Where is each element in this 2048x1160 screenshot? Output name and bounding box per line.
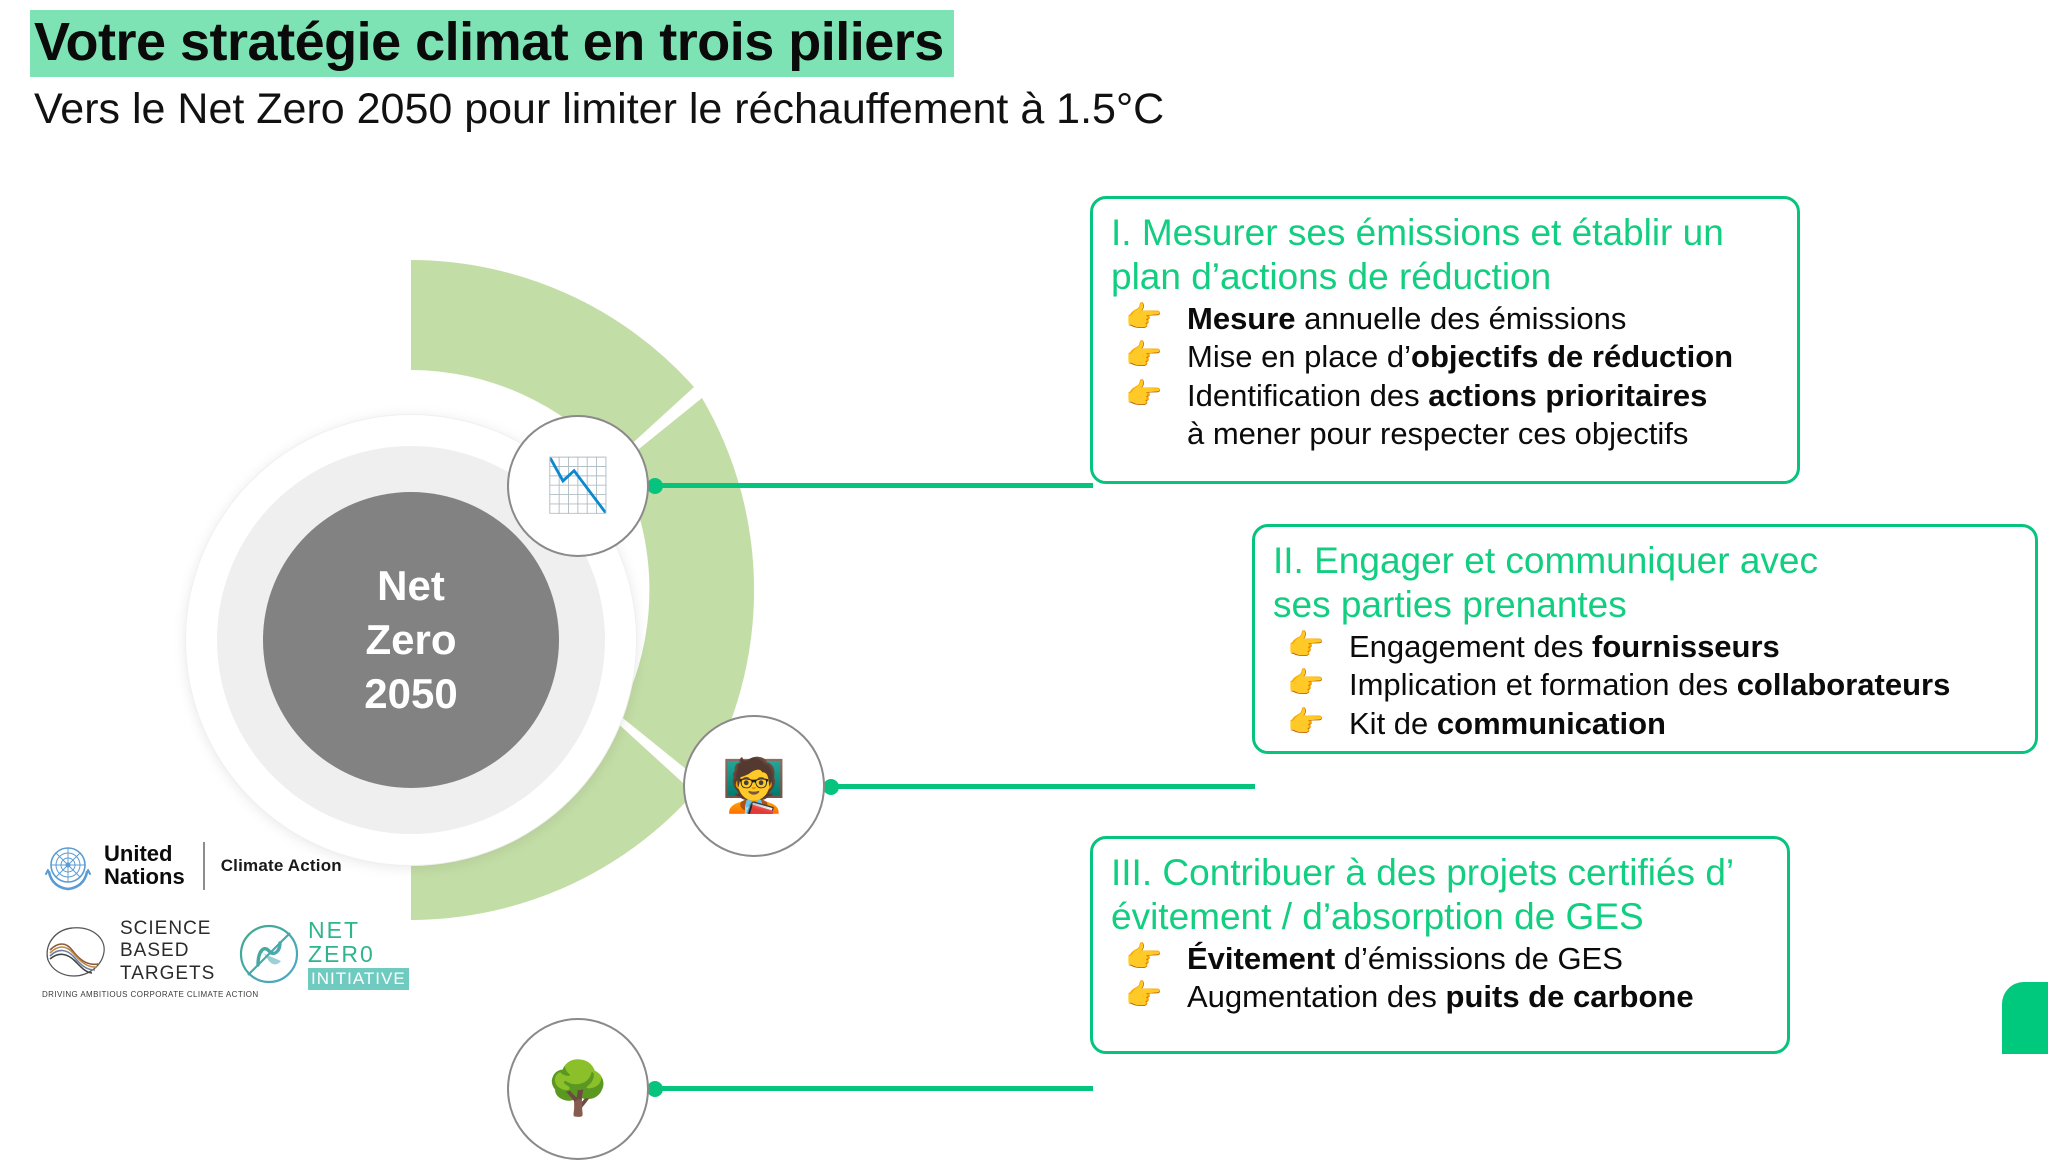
pillar-1-icon-bubble[interactable]: 📉 bbox=[507, 415, 649, 557]
sbt-line-2: BASED bbox=[120, 940, 215, 962]
bullet-text: Identification des actions prioritaires bbox=[1187, 377, 1781, 415]
bullet-text: Kit de communication bbox=[1349, 705, 2019, 743]
pillar-2-callout: II. Engager et communiquer avec ses part… bbox=[1252, 524, 2038, 754]
logo-row-bottom: SCIENCE BASED TARGETS DRIVING AMBITIOUS … bbox=[42, 918, 462, 999]
pointing-right-hand-icon: 👉 bbox=[1273, 705, 1349, 742]
science-based-targets-mark-icon bbox=[42, 920, 112, 984]
core-line-2: Zero bbox=[365, 613, 456, 667]
pillar-1-bullets: 👉Mesure annuelle des émissions👉Mise en p… bbox=[1111, 300, 1781, 453]
bullet-text: Mesure annuelle des émissions bbox=[1187, 300, 1781, 338]
pillar-3-heading: III. Contribuer à des projets certifiés … bbox=[1111, 851, 1771, 938]
nzi-line-3: INITIATIVE bbox=[308, 968, 409, 990]
bullet-item: 👉Mise en place d’objectifs de réduction bbox=[1111, 338, 1781, 376]
bullet-item: 👉Identification des actions prioritaires bbox=[1111, 377, 1781, 415]
pillar-2-icon-bubble[interactable]: 🧑‍🏫 bbox=[683, 715, 825, 857]
page-header: Votre stratégie climat en trois piliers … bbox=[30, 10, 1930, 134]
bullet-item: 👉Évitement d’émissions de GES bbox=[1111, 940, 1771, 978]
pointing-right-hand-icon: 👉 bbox=[1273, 628, 1349, 665]
bullet-text: Évitement d’émissions de GES bbox=[1187, 940, 1771, 978]
pointing-right-hand-icon: 👉 bbox=[1111, 978, 1187, 1015]
page-subtitle: Vers le Net Zero 2050 pour limiter le ré… bbox=[34, 85, 1930, 134]
pointing-right-hand-icon: 👉 bbox=[1111, 300, 1187, 337]
pillar-3-bullets: 👉Évitement d’émissions de GES👉Augmentati… bbox=[1111, 940, 1771, 1016]
core-line-1: Net bbox=[377, 559, 445, 613]
un-line-1: United bbox=[104, 843, 185, 866]
bullet-text: Mise en place d’objectifs de réduction bbox=[1187, 338, 1781, 376]
un-wordmark: United Nations bbox=[104, 843, 185, 888]
logo-divider bbox=[203, 842, 205, 890]
connector-dot bbox=[647, 478, 663, 494]
bullet-text: Augmentation des puits de carbone bbox=[1187, 978, 1771, 1016]
net-zero-initiative-mark-icon bbox=[236, 921, 302, 987]
bullet-item: 👉Engagement des fournisseurs bbox=[1273, 628, 2019, 666]
connector-pillar-2 bbox=[829, 784, 1255, 800]
un-line-2: Nations bbox=[104, 866, 185, 889]
nzi-wordmark: NET ZER0 INITIATIVE bbox=[308, 918, 409, 990]
bullet-text: Implication et formation des collaborate… bbox=[1349, 666, 2019, 704]
core-line-3: 2050 bbox=[364, 667, 457, 721]
science-based-targets-logo: SCIENCE BASED TARGETS DRIVING AMBITIOUS … bbox=[42, 918, 222, 999]
bullet-item: 👉Kit de communication bbox=[1273, 705, 2019, 743]
corner-accent-shape bbox=[2002, 982, 2048, 1054]
partner-logos: United Nations Climate Action bbox=[42, 840, 462, 999]
pillar-3-callout: III. Contribuer à des projets certifiés … bbox=[1090, 836, 1790, 1054]
sbt-line-3: TARGETS bbox=[120, 963, 215, 985]
nzi-line-2: ZER0 bbox=[308, 942, 409, 966]
chart-decreasing-icon: 📉 bbox=[546, 460, 611, 512]
teacher-icon: 🧑‍🏫 bbox=[722, 760, 787, 812]
bullet-text: à mener pour respecter ces objectifs bbox=[1187, 415, 1781, 453]
connector-dot bbox=[647, 1081, 663, 1097]
united-nations-emblem-icon bbox=[42, 840, 94, 892]
connector-dot bbox=[823, 779, 839, 795]
pointing-right-hand-icon: 👉 bbox=[1111, 377, 1187, 414]
pillar-2-bullets: 👉Engagement des fournisseurs👉Implication… bbox=[1273, 628, 2019, 742]
pointing-right-hand-icon: 👉 bbox=[1111, 338, 1187, 375]
sbt-tagline: DRIVING AMBITIOUS CORPORATE CLIMATE ACTI… bbox=[42, 990, 222, 999]
pillar-2-heading: II. Engager et communiquer avec ses part… bbox=[1273, 539, 2019, 626]
climate-action-label: Climate Action bbox=[221, 856, 342, 876]
sbt-wordmark: SCIENCE BASED TARGETS bbox=[120, 918, 215, 985]
pointing-right-hand-icon: 👉 bbox=[1111, 940, 1187, 977]
connector-pillar-3 bbox=[653, 1086, 1093, 1102]
bullet-item: 👉Augmentation des puits de carbone bbox=[1111, 978, 1771, 1016]
bullet-item: 👉Mesure annuelle des émissions bbox=[1111, 300, 1781, 338]
bullet-text: Engagement des fournisseurs bbox=[1349, 628, 2019, 666]
tree-icon: 🌳 bbox=[546, 1063, 611, 1115]
un-climate-action-logo: United Nations Climate Action bbox=[42, 840, 462, 892]
net-zero-core: Net Zero 2050 bbox=[263, 492, 559, 788]
pointing-right-hand-icon: 👉 bbox=[1273, 666, 1349, 703]
net-zero-initiative-logo: NET ZER0 INITIATIVE bbox=[236, 918, 409, 990]
sbt-line-1: SCIENCE bbox=[120, 918, 215, 940]
pillar-1-callout: I. Mesurer ses émissions et établir un p… bbox=[1090, 196, 1800, 484]
bullet-item: 👉Implication et formation des collaborat… bbox=[1273, 666, 2019, 704]
title-wrapper: Votre stratégie climat en trois piliers bbox=[30, 10, 954, 77]
bullet-item: 👉à mener pour respecter ces objectifs bbox=[1111, 415, 1781, 453]
connector-pillar-1 bbox=[653, 483, 1093, 499]
nzi-line-1: NET bbox=[308, 918, 409, 942]
pillar-1-heading: I. Mesurer ses émissions et établir un p… bbox=[1111, 211, 1781, 298]
page-title: Votre stratégie climat en trois piliers bbox=[30, 10, 954, 77]
pillar-3-icon-bubble[interactable]: 🌳 bbox=[507, 1018, 649, 1160]
